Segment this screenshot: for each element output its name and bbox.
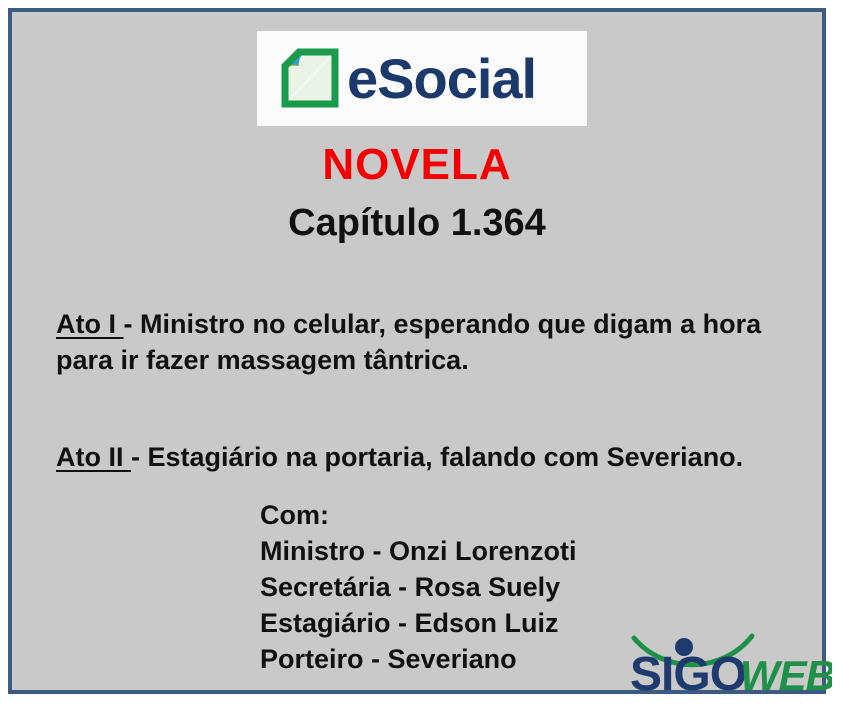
act-label-1: Ato I bbox=[56, 309, 124, 339]
cast-member: Porteiro - Severiano bbox=[260, 642, 576, 678]
cast-member: Estagiário - Edson Luiz bbox=[260, 606, 576, 642]
acts-section: Ato I - Ministro no celular, esperando q… bbox=[56, 280, 796, 503]
slide-frame: eSocial NOVELA Capítulo 1.364 Ato I - Mi… bbox=[8, 8, 826, 694]
cast-member: Secretária - Rosa Suely bbox=[260, 570, 576, 606]
cast-member: Ministro - Onzi Lorenzoti bbox=[260, 534, 576, 570]
esocial-document-icon bbox=[279, 48, 341, 110]
svg-text:WEB: WEB bbox=[740, 652, 832, 696]
act-separator-1: - bbox=[124, 309, 141, 339]
sigoweb-logo: SIGO WEB bbox=[612, 624, 832, 696]
cast-heading: Com: bbox=[260, 498, 576, 534]
act-label-2: Ato II bbox=[56, 442, 131, 472]
chapter-title: Capítulo 1.364 bbox=[12, 204, 822, 242]
cast-section: Com: Ministro - Onzi Lorenzoti Secretári… bbox=[260, 498, 576, 678]
novela-title: NOVELA bbox=[12, 143, 822, 187]
esocial-logo: eSocial bbox=[257, 31, 587, 126]
act-block-2: Ato II - Estagiário na portaria, falando… bbox=[56, 440, 796, 476]
act-text-2: Estagiário na portaria, falando com Seve… bbox=[148, 442, 744, 472]
act-block-1: Ato I - Ministro no celular, esperando q… bbox=[56, 307, 796, 378]
esocial-wordmark: eSocial bbox=[347, 51, 536, 107]
svg-text:SIGO: SIGO bbox=[630, 648, 746, 696]
slide-canvas: eSocial NOVELA Capítulo 1.364 Ato I - Mi… bbox=[12, 12, 822, 690]
act-text-1: Ministro no celular, esperando que digam… bbox=[56, 309, 761, 375]
act-separator-2: - bbox=[131, 442, 148, 472]
